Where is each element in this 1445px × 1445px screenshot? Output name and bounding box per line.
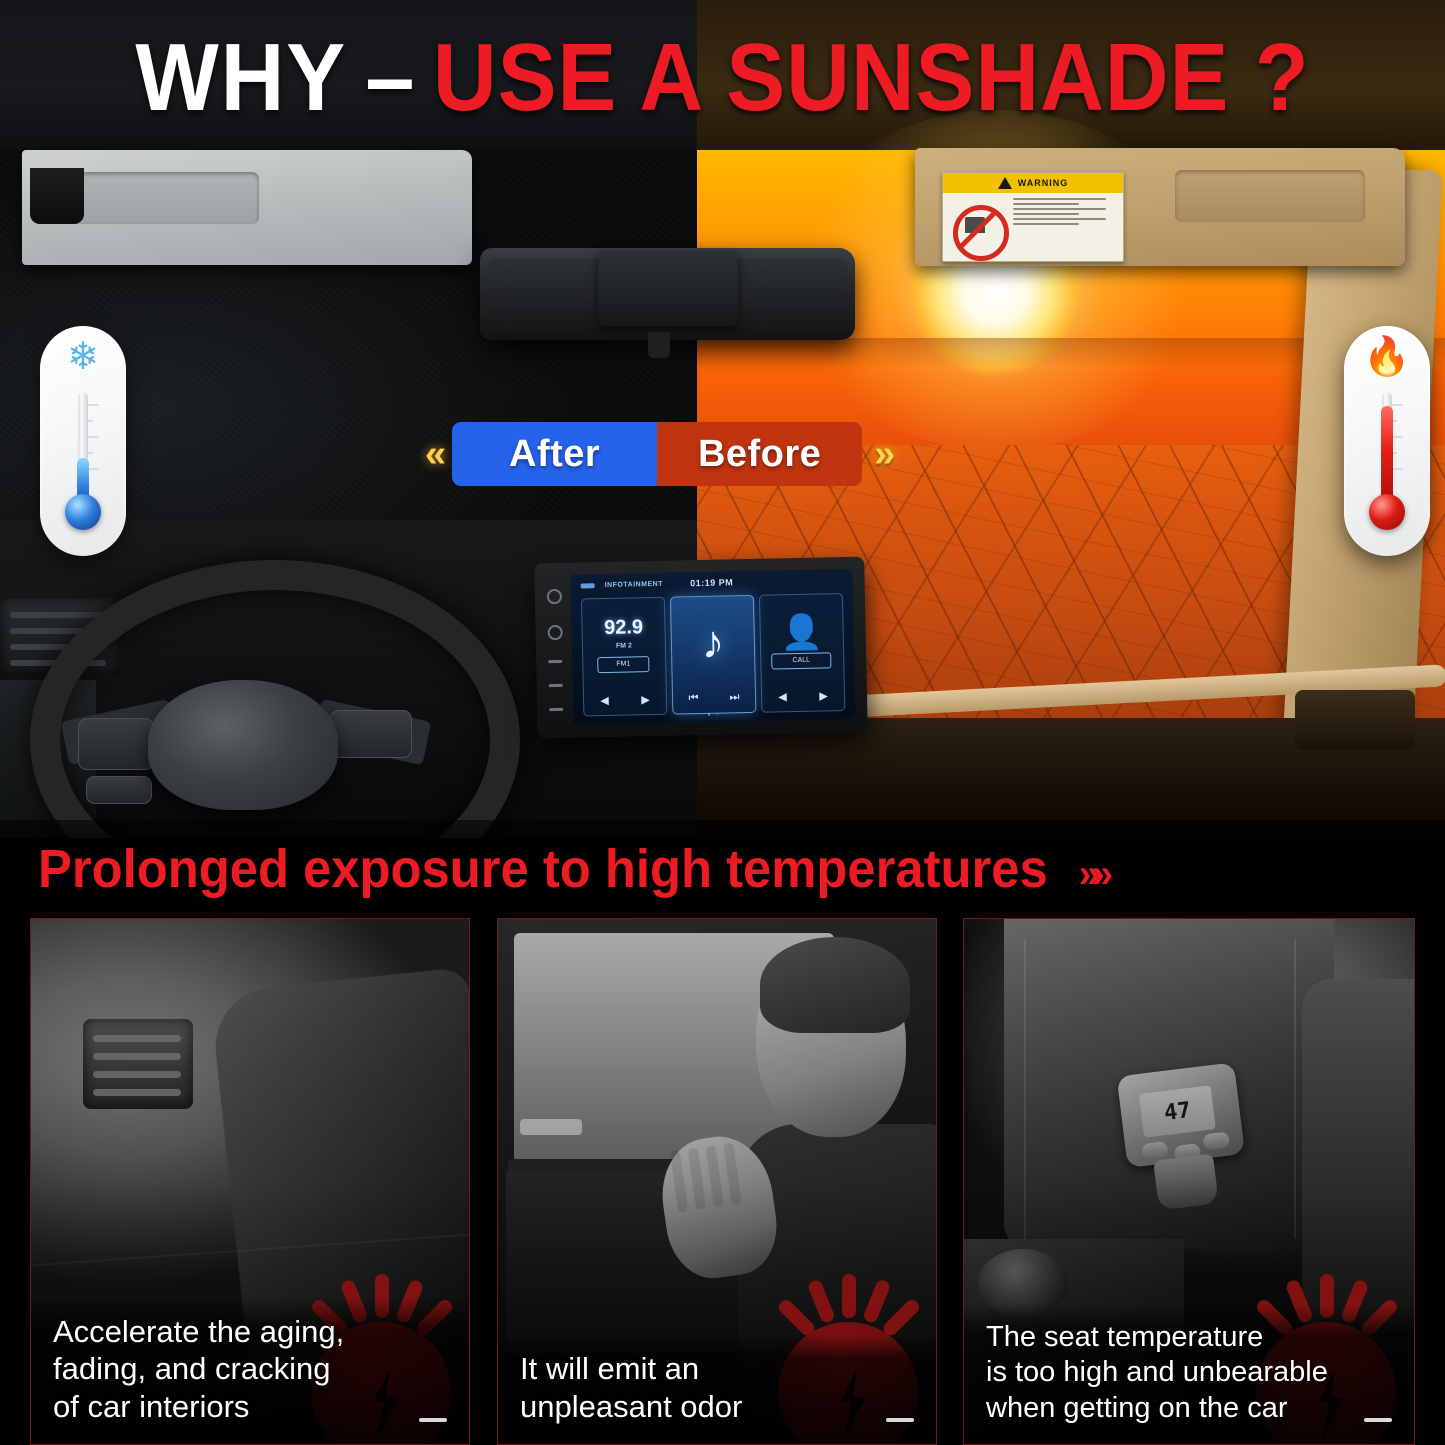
sunshade-infographic: WARNING — [0, 0, 1445, 1445]
caption-line: fading, and cracking — [53, 1350, 449, 1388]
panel-odor[interactable]: It will emit an unpleasant odor — [497, 918, 937, 1445]
airbag-hub — [148, 680, 338, 810]
panel-aging[interactable]: Accelerate the aging, fading, and cracki… — [30, 918, 470, 1445]
sun-visor-cool — [22, 150, 472, 265]
media-transport-controls[interactable]: ⏮⏭ — [673, 691, 755, 706]
radio-band: FM 2 — [583, 642, 665, 651]
airbag-warning-label: WARNING — [942, 172, 1124, 262]
cold-thermometer: ❄ — [40, 326, 126, 556]
steering-button-pad-left — [78, 718, 154, 770]
chevron-left-icon: « — [425, 435, 440, 473]
panel-seat-temperature[interactable]: 47 The seat temperature — [963, 918, 1415, 1445]
radio-frequency: 92.9 — [582, 616, 664, 641]
bluetooth-icon — [581, 583, 595, 588]
phone-nav-controls[interactable]: ◀▶ — [762, 689, 844, 704]
before-badge[interactable]: Before — [657, 422, 862, 486]
double-chevron-right-icon: »» — [1079, 852, 1106, 896]
media-prev-icon: ⏮ — [688, 692, 698, 705]
caption-line: unpleasant odor — [520, 1388, 916, 1426]
radio-preset-chip[interactable]: FM1 — [597, 656, 649, 673]
thermometer-bulb-hot — [1369, 494, 1405, 530]
radio-card[interactable]: 92.9 FM 2 FM1 ◀▶ — [581, 597, 667, 717]
caption-underscore — [1364, 1418, 1392, 1422]
volume-knob-icon — [547, 625, 562, 640]
steering-wheel — [30, 560, 460, 838]
consequence-panels: Accelerate the aging, fading, and cracki… — [0, 918, 1445, 1445]
caption-line: when getting on the car — [986, 1391, 1394, 1426]
steering-button-pad-right — [330, 710, 412, 758]
mid-headline-text: Prolonged exposure to high temperatures — [38, 839, 1048, 899]
hero-before-after: WARNING — [0, 0, 1445, 838]
warning-header-bar: WARNING — [943, 173, 1123, 193]
rearview-mirror — [480, 248, 855, 340]
power-knob-icon — [546, 589, 561, 604]
hot-thermometer: 🔥 — [1344, 326, 1430, 556]
prohibition-circle — [953, 205, 1009, 261]
mid-headline-band: Prolonged exposure to high temperatures … — [0, 820, 1445, 918]
mid-headline: Prolonged exposure to high temperatures … — [38, 842, 1106, 896]
warning-triangle-icon — [998, 177, 1012, 189]
warning-body — [943, 193, 1123, 261]
title-word-red: USE A SUNSHADE ? — [433, 30, 1310, 126]
panel-caption-3: The seat temperature is too high and unb… — [964, 1304, 1414, 1444]
head-unit-statusbar: INFOTAINMENT 01:19 PM — [571, 572, 853, 594]
no-child-seat-icon — [943, 193, 1009, 261]
head-unit-side-buttons[interactable] — [541, 579, 570, 722]
visor-mirror-slot — [64, 172, 259, 224]
steering-button-pad-lower — [86, 776, 152, 804]
phone-call-chip[interactable]: CALL — [771, 652, 831, 669]
after-badge[interactable]: After — [452, 422, 657, 486]
caption-line: Accelerate the aging, — [53, 1313, 449, 1351]
infotainment-head-unit[interactable]: INFOTAINMENT 01:19 PM 92.9 FM 2 FM1 ◀▶ ♪ — [534, 557, 868, 739]
caption-line: of car interiors — [53, 1388, 449, 1426]
seek-prev-icon: ◀ — [600, 694, 609, 707]
head-unit-mount — [30, 168, 84, 224]
head-unit-clock: 01:19 PM — [690, 577, 733, 588]
thermometer-bulb-cold — [65, 494, 101, 530]
music-note-icon: ♪ — [671, 618, 754, 666]
radio-seek-controls[interactable]: ◀▶ — [584, 693, 666, 708]
menu-icon — [549, 708, 563, 711]
title-dash: – — [365, 30, 414, 126]
phone-next-icon: ▶ — [819, 689, 828, 702]
warning-fine-print — [1009, 193, 1123, 261]
visor-mirror-slot-hot — [1175, 170, 1365, 222]
snowflake-icon: ❄ — [40, 338, 126, 376]
head-unit-brand: INFOTAINMENT — [605, 580, 664, 588]
panel-caption-2: It will emit an unpleasant odor — [498, 1334, 936, 1444]
caption-line: It will emit an — [520, 1350, 916, 1388]
before-after-toggle: « After Before » — [425, 418, 945, 490]
media-card[interactable]: ♪ ⏮⏭ — [670, 595, 756, 715]
warning-text: WARNING — [1018, 178, 1069, 188]
caption-underscore — [419, 1418, 447, 1422]
mute-icon — [548, 660, 562, 663]
caption-underscore — [886, 1418, 914, 1422]
air-vent-right — [1295, 690, 1415, 750]
media-next-icon: ⏭ — [729, 691, 739, 704]
head-unit-cards: 92.9 FM 2 FM1 ◀▶ ♪ ⏮⏭ 👤 — [581, 593, 845, 716]
seek-next-icon: ▶ — [641, 693, 650, 706]
panel-caption-1: Accelerate the aging, fading, and cracki… — [31, 1297, 469, 1444]
mirror-dashcam-module — [598, 250, 738, 326]
phone-prev-icon: ◀ — [778, 690, 787, 703]
chevron-right-icon: » — [874, 435, 889, 473]
title-word-why: WHY — [135, 30, 347, 126]
home-icon — [549, 684, 563, 687]
flame-icon: 🔥 — [1344, 338, 1430, 376]
phone-card[interactable]: 👤 CALL ◀▶ — [759, 593, 845, 713]
person-icon: 👤 — [760, 612, 843, 654]
page-title: WHY – USE A SUNSHADE ? — [58, 22, 1387, 134]
mirror-mount-stem — [648, 332, 670, 358]
caption-line: is too high and unbearable — [986, 1355, 1394, 1390]
caption-line: The seat temperature — [986, 1320, 1394, 1355]
head-unit-screen[interactable]: INFOTAINMENT 01:19 PM 92.9 FM 2 FM1 ◀▶ ♪ — [570, 569, 855, 725]
